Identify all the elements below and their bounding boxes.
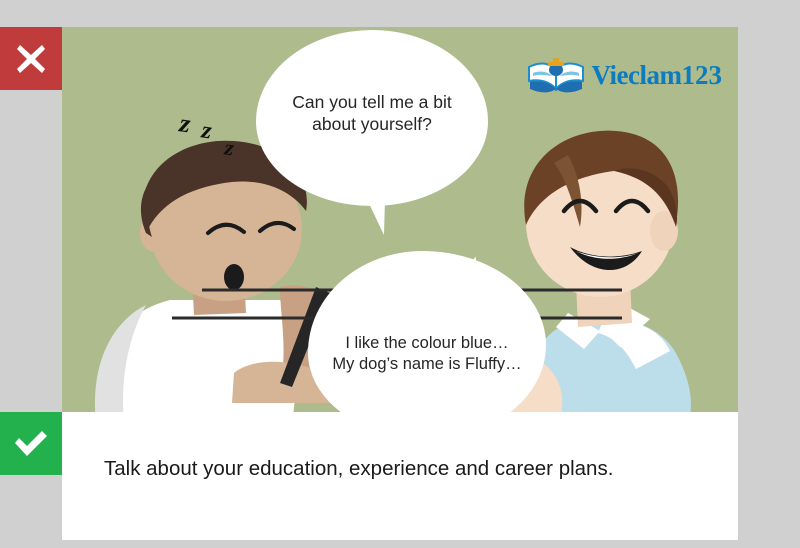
cross-badge[interactable] (0, 27, 62, 90)
brand-logo-text: Vieclam123 (592, 62, 722, 89)
question-bubble-body: Can you tell me a bit about yourself? (256, 30, 488, 206)
z-glyph-3: z (223, 135, 236, 162)
answer-bubble-body: I like the colour blue… My dog’s name is… (308, 251, 546, 412)
caption-text: Talk about your education, experience an… (104, 412, 718, 525)
caption-card: Talk about your education, experience an… (62, 412, 738, 525)
z-glyph-1: z (178, 108, 193, 139)
candidate-answer-bubble: I like the colour blue… My dog’s name is… (308, 251, 546, 412)
z-glyph-2: z (200, 117, 213, 145)
open-book-logo-icon (527, 55, 585, 95)
brand-digits: 123 (682, 60, 723, 90)
answer-line-2: My dog’s name is Fluffy… (332, 354, 521, 375)
sleep-zzz-icon: z z z (180, 109, 260, 171)
brand-logo[interactable]: Vieclam123 (527, 55, 722, 95)
interviewer-question-bubble: Can you tell me a bit about yourself? (256, 30, 488, 206)
question-line-2: about yourself? (292, 113, 452, 135)
torn-paper-edge (62, 525, 738, 540)
cross-icon (14, 42, 48, 76)
poster-stage: z z z Can you tell me a bit about yourse… (0, 0, 800, 548)
answer-line-1: I like the colour blue… (332, 333, 521, 354)
illustration-panel: z z z Can you tell me a bit about yourse… (62, 27, 738, 412)
brand-word: Vieclam (592, 60, 682, 90)
question-line-1: Can you tell me a bit (292, 91, 452, 113)
check-badge[interactable] (0, 412, 62, 475)
check-icon (13, 429, 49, 459)
